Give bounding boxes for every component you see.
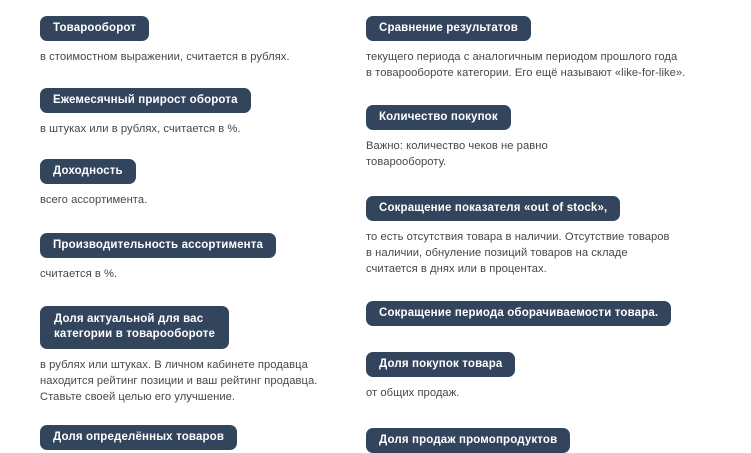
metric-description-results-comparison: текущего периода с аналогичным периодом … <box>366 50 685 81</box>
metric-badge-specific-goods-share[interactable]: Доля определённых товаров <box>40 425 237 450</box>
metric-description-turnover: в стоимостном выражении, считается в руб… <box>40 50 290 66</box>
metric-description-category-share: в рублях или штуках. В личном кабинете п… <box>40 358 317 405</box>
metric-description-product-purchase-share: от общих продаж. <box>366 386 459 402</box>
metric-block-specific-goods-share: Доля определённых товаров <box>40 425 352 450</box>
metric-badge-product-purchase-share[interactable]: Доля покупок товара <box>366 352 515 377</box>
metric-block-purchase-count: Количество покупок Важно: количество чек… <box>366 105 743 170</box>
metric-description-purchase-count: Важно: количество чеков не равно товароо… <box>366 139 548 170</box>
metric-block-promo-sales-share: Доля продаж промопродуктов <box>366 428 743 453</box>
metric-block-turnover-period: Сокращение периода оборачиваемости товар… <box>366 301 743 326</box>
metric-description-out-of-stock: то есть отсутствия товара в наличии. Отс… <box>366 230 670 277</box>
metric-badge-profitability[interactable]: Доходность <box>40 159 136 184</box>
metric-description-assortment-performance: считается в %. <box>40 267 117 283</box>
metric-block-results-comparison: Сравнение результатов текущего периода с… <box>366 16 743 81</box>
metric-badge-assortment-performance[interactable]: Производительность ассортимента <box>40 233 276 258</box>
metric-badge-promo-sales-share[interactable]: Доля продаж промопродуктов <box>366 428 570 453</box>
metric-description-monthly-growth: в штуках или в рублях, считается в %. <box>40 122 241 138</box>
metric-description-profitability: всего ассортимента. <box>40 193 147 209</box>
metrics-page: Товарооборот в стоимостном выражении, сч… <box>0 0 751 419</box>
metric-block-turnover: Товарооборот в стоимостном выражении, сч… <box>40 16 352 66</box>
metric-badge-turnover-period[interactable]: Сокращение периода оборачиваемости товар… <box>366 301 671 326</box>
metric-block-assortment-performance: Производительность ассортимента считаетс… <box>40 233 352 283</box>
metric-badge-results-comparison[interactable]: Сравнение результатов <box>366 16 531 41</box>
metric-block-category-share: Доля актуальной для вас категории в това… <box>40 306 352 405</box>
metric-badge-out-of-stock[interactable]: Сокращение показателя «out of stock», <box>366 196 620 221</box>
metric-block-out-of-stock: Сокращение показателя «out of stock», то… <box>366 196 743 277</box>
metric-block-product-purchase-share: Доля покупок товара от общих продаж. <box>366 352 743 402</box>
metric-badge-purchase-count[interactable]: Количество покупок <box>366 105 511 130</box>
metric-badge-turnover[interactable]: Товарооборот <box>40 16 149 41</box>
metric-block-monthly-growth: Ежемесячный прирост оборота в штуках или… <box>40 88 352 138</box>
metrics-column-left: Товарооборот в стоимостном выражении, сч… <box>0 0 360 450</box>
metric-badge-monthly-growth[interactable]: Ежемесячный прирост оборота <box>40 88 251 113</box>
metric-block-profitability: Доходность всего ассортимента. <box>40 159 352 209</box>
metrics-column-right: Сравнение результатов текущего периода с… <box>360 0 751 453</box>
metric-badge-category-share[interactable]: Доля актуальной для вас категории в това… <box>40 306 229 349</box>
